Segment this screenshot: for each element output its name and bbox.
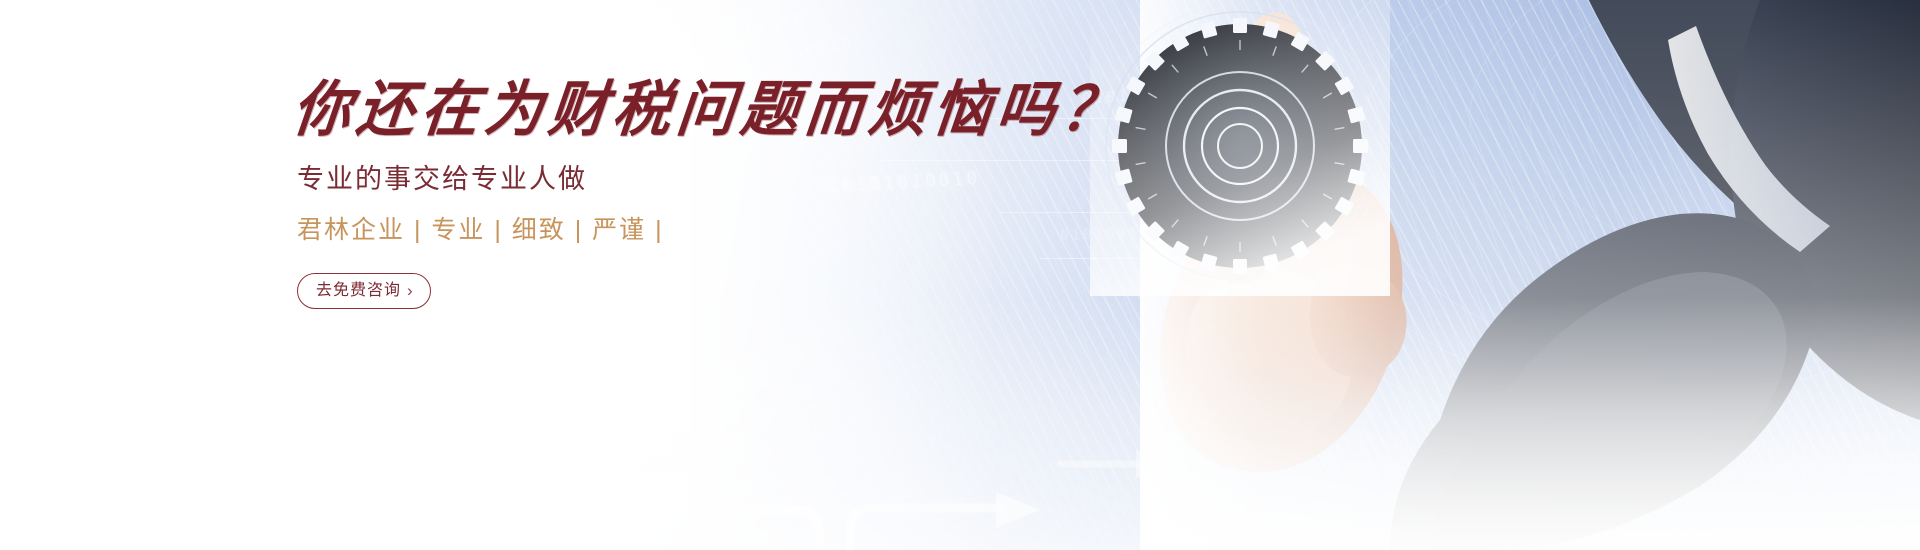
free-consultation-button[interactable]: 去免费咨询 › — [297, 273, 431, 309]
background-bottom-fade — [0, 297, 1920, 550]
banner-tagline: 君林企业 | 专业 | 细致 | 严谨 | — [297, 218, 1013, 243]
hero-banner: 01010010 1010010 010101010 1010101010101… — [0, 0, 1920, 550]
banner-headline: 你还在为财税问题而烦恼吗？ — [290, 79, 1016, 139]
banner-content: 你还在为财税问题而烦恼吗？ 专业的事交给专业人做 君林企业 | 专业 | 细致 … — [293, 80, 1013, 309]
cta-label: 去免费咨询 — [316, 283, 401, 299]
fingerprint-dial-graphic — [1090, 0, 1390, 296]
cta-container: 去免费咨询 › — [297, 273, 1013, 309]
banner-subtitle: 专业的事交给专业人做 — [297, 166, 1013, 193]
chevron-right-icon: › — [407, 282, 414, 299]
